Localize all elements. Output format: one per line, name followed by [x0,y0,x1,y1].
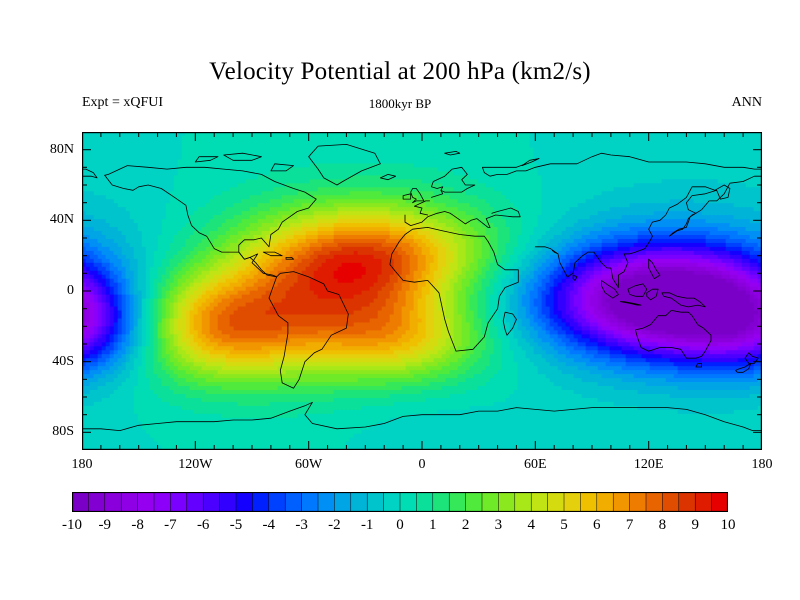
longitude-tick-label: 120E [609,458,689,472]
colorbar-band [384,492,401,512]
latitude-tick-label: 0 [14,284,74,298]
velocity-potential-figure: Velocity Potential at 200 hPa (km2/s) 18… [0,0,800,600]
longitude-tick-label: 60E [495,458,575,472]
latitude-tick-label: 80S [14,425,74,439]
colorbar-band [416,492,433,512]
colorbar-band [170,492,187,512]
colorbar-band [334,492,351,512]
colorbar-tick-label: 10 [698,518,758,533]
latitude-tick-label: 40N [14,213,74,227]
colorbar-band [367,492,384,512]
colorbar-band [695,492,712,512]
colorbar-band [154,492,171,512]
colorbar-band [203,492,220,512]
colorbar-band [466,492,483,512]
colorbar-band [220,492,237,512]
colorbar-band [630,492,647,512]
colorbar-band [252,492,269,512]
colorbar-band [564,492,581,512]
longitude-tick-label: 120W [155,458,235,472]
latitude-tick-label: 80N [14,143,74,157]
colorbar-band [679,492,696,512]
colorbar-band [646,492,663,512]
longitude-tick-label: 60W [269,458,349,472]
colorbar-band [285,492,302,512]
colorbar-band [88,492,105,512]
colorbar-band [433,492,450,512]
season-label: ANN [732,95,762,111]
colorbar-band [531,492,548,512]
colorbar-band [187,492,204,512]
colorbar-band [548,492,565,512]
colorbar-band [597,492,614,512]
colorbar-band [269,492,286,512]
longitude-tick-label: 0 [382,458,462,472]
colorbar-swatches [72,492,728,512]
colorbar-band [318,492,335,512]
colorbar-band [236,492,253,512]
colorbar [72,492,728,512]
colorbar-band [449,492,466,512]
longitude-tick-label: 180 [722,458,800,472]
colorbar-band [515,492,532,512]
page-title: Velocity Potential at 200 hPa (km2/s) [0,58,800,86]
colorbar-band [482,492,499,512]
colorbar-band [351,492,368,512]
colorbar-band [712,492,728,512]
colorbar-band [662,492,679,512]
velocity-potential-map [82,132,762,450]
colorbar-band [498,492,515,512]
longitude-tick-label: 180 [42,458,122,472]
colorbar-band [72,492,89,512]
map-plot-area [82,132,762,450]
experiment-label: Expt = xQFUI [82,95,163,111]
colorbar-band [138,492,155,512]
colorbar-band [302,492,319,512]
latitude-tick-label: 40S [14,355,74,369]
colorbar-band [121,492,138,512]
colorbar-band [613,492,630,512]
colorbar-band [580,492,597,512]
colorbar-band [400,492,417,512]
contour-fill-layer [82,132,762,450]
colorbar-band [105,492,122,512]
